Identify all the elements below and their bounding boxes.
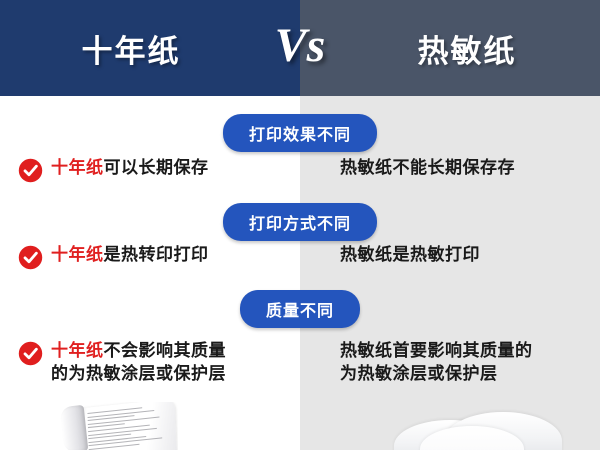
header-right-panel: 热敏纸 bbox=[300, 0, 600, 96]
comparison-row-2: 十年纸是热转印打印 热敏纸是热敏打印 bbox=[0, 244, 600, 270]
right-product-title: 热敏纸 bbox=[418, 26, 517, 71]
row-1-left-cell: 十年纸可以长期保存 bbox=[0, 157, 300, 183]
comparison-row-1: 十年纸可以长期保存 热敏纸不能长期保存存 bbox=[0, 157, 600, 183]
row-1-left-text: 十年纸可以长期保存 bbox=[51, 157, 209, 180]
receipt-printed-lines bbox=[87, 405, 166, 450]
row-1-right-cell: 热敏纸不能长期保存存 bbox=[300, 157, 600, 183]
row-2-right-cell: 热敏纸是热敏打印 bbox=[300, 244, 600, 270]
row-2-left-cell: 十年纸是热转印打印 bbox=[0, 244, 300, 270]
check-circle-icon bbox=[18, 341, 43, 366]
row-3-left-line-1: 十年纸不会影响其质量 bbox=[51, 340, 226, 363]
comparison-infographic: 十年纸 热敏纸 Vs 打印效果不同 十年纸可以长期保存 热敏纸不能长期保存存 打… bbox=[0, 0, 600, 450]
header-banner: 十年纸 热敏纸 bbox=[0, 0, 600, 96]
comparison-row-3: 十年纸不会影响其质量 的为热敏涂层或保护层 热敏纸首要影响其质量的 为热敏涂层或… bbox=[0, 340, 600, 386]
header-left-panel: 十年纸 bbox=[0, 0, 300, 96]
row-3-right-text: 热敏纸首要影响其质量的 为热敏涂层或保护层 bbox=[340, 340, 533, 386]
row-1-left-rest: 可以长期保存 bbox=[104, 158, 209, 177]
receipt-paper-curl bbox=[60, 405, 89, 450]
row-3-left-text: 十年纸不会影响其质量 的为热敏涂层或保护层 bbox=[51, 340, 226, 386]
section-badge-printing-method: 打印方式不同 bbox=[223, 203, 377, 241]
row-3-left-line-2: 的为热敏涂层或保护层 bbox=[51, 363, 226, 386]
row-2-left-rest: 是热转印打印 bbox=[104, 245, 209, 264]
row-3-right-cell: 热敏纸首要影响其质量的 为热敏涂层或保护层 bbox=[300, 340, 600, 386]
row-2-left-highlight: 十年纸 bbox=[51, 245, 104, 264]
row-2-right-text: 热敏纸是热敏打印 bbox=[340, 244, 480, 267]
row-3-right-line-1: 热敏纸首要影响其质量的 bbox=[340, 340, 533, 363]
check-circle-icon bbox=[18, 245, 43, 270]
check-circle-icon bbox=[18, 158, 43, 183]
receipt-roll-image bbox=[58, 402, 178, 450]
row-3-left-highlight: 十年纸 bbox=[51, 341, 104, 360]
row-1-right-text: 热敏纸不能长期保存存 bbox=[340, 157, 515, 180]
row-3-left-rest-1: 不会影响其质量 bbox=[104, 341, 227, 360]
row-1-left-highlight: 十年纸 bbox=[51, 158, 104, 177]
section-badge-printing-effect: 打印效果不同 bbox=[223, 114, 377, 152]
row-3-left-cell: 十年纸不会影响其质量 的为热敏涂层或保护层 bbox=[0, 340, 300, 386]
section-badge-quality: 质量不同 bbox=[240, 290, 360, 328]
row-2-left-text: 十年纸是热转印打印 bbox=[51, 244, 209, 267]
row-3-right-line-2: 为热敏涂层或保护层 bbox=[340, 363, 533, 386]
thermal-paper-roll-image bbox=[392, 404, 568, 450]
left-product-title: 十年纸 bbox=[82, 26, 181, 71]
